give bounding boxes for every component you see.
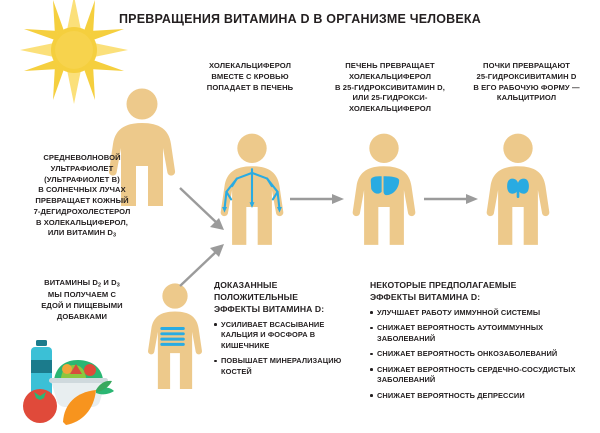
food-line-3: ЕДОЙ И ПИЩЕВЫМИ xyxy=(2,301,162,312)
proven-effects-list: УСИЛИВАЕТ ВСАСЫВАНИЕ КАЛЬЦИЯ И ФОСФОРА В… xyxy=(214,320,360,378)
presumed-heading-line-2: ЭФФЕКТЫ ВИТАМИНА D: xyxy=(370,292,596,304)
kidney-text-block: ПОЧКИ ПРЕВРАЩАЮТ 25-ГИДРОКСИВИТАМИН D В … xyxy=(455,61,598,104)
food-line-4: ДОБАВКАМИ xyxy=(2,312,162,323)
uvb-text-block: СРЕДНЕВОЛНОВОЙ УЛЬТРАФИОЛЕТ (УЛЬТРАФИОЛЕ… xyxy=(2,153,162,241)
presumed-heading-line-1: НЕКОТОРЫЕ ПРЕДПОЛАГАЕМЫЕ xyxy=(370,280,596,292)
tomato-icon xyxy=(23,389,57,423)
liver-line-2: ХОЛЕКАЛЬЦИФЕРОЛ xyxy=(320,72,460,83)
list-item: ПОВЫШАЕТ МИНЕРАЛИЗАЦИЮ КОСТЕЙ xyxy=(214,356,360,377)
uvb-line-2: УЛЬТРАФИОЛЕТ xyxy=(2,164,162,175)
liver-text-block: ПЕЧЕНЬ ПРЕВРАЩАЕТ ХОЛЕКАЛЬЦИФЕРОЛ В 25-Г… xyxy=(320,61,460,115)
uvb-line-6: 7-ДЕГИДРОХОЛЕСТЕРОЛ xyxy=(2,207,162,218)
food-line-1: ВИТАМИНЫ D2 И D3 xyxy=(2,278,162,290)
liver-line-1: ПЕЧЕНЬ ПРЕВРАЩАЕТ xyxy=(320,61,460,72)
food-line-2: МЫ ПОЛУЧАЕМ С xyxy=(2,290,162,301)
list-item: СНИЖАЕТ ВЕРОЯТНОСТЬ АУТОИММУННЫХ ЗАБОЛЕВ… xyxy=(370,323,596,344)
kidney-line-3: В ЕГО РАБОЧУЮ ФОРМУ — xyxy=(455,83,598,94)
uvb-subscript: 3 xyxy=(113,233,116,239)
kidney-line-4: КАЛЬЦИТРИОЛ xyxy=(455,93,598,104)
food-and-supplements-illustration xyxy=(4,334,116,430)
uvb-line-7: В ХОЛЕКАЛЬЦИФЕРОЛ, xyxy=(2,218,162,229)
food-vitamin-d2-label: ВИТАМИНЫ D xyxy=(44,278,98,287)
human-figure-kidneys xyxy=(482,133,554,245)
proven-effects-section: ДОКАЗАННЫЕ ПОЛОЖИТЕЛЬНЫЕ ЭФФЕКТЫ ВИТАМИН… xyxy=(214,280,360,382)
list-item: УЛУЧШАЕТ РАБОТУ ИММУННОЙ СИСТЕМЫ xyxy=(370,308,596,319)
proven-heading-line-1: ДОКАЗАННЫЕ xyxy=(214,280,360,292)
human-figure-liver xyxy=(348,133,420,245)
uvb-line-8-text: ИЛИ ВИТАМИН D xyxy=(48,228,113,237)
list-item: СНИЖАЕТ ВЕРОЯТНОСТЬ ОНКОЗАБОЛЕВАНИЙ xyxy=(370,349,596,360)
blood-text-block: ХОЛЕКАЛЬЦИФЕРОЛ ВМЕСТЕ С КРОВЬЮ ПОПАДАЕТ… xyxy=(172,61,328,93)
arrow-liver-to-kidney xyxy=(424,192,480,206)
proven-heading-line-3: ЭФФЕКТЫ ВИТАМИНА D: xyxy=(214,304,360,316)
uvb-line-5: ПРЕВРАЩАЕТ КОЖНЫЙ xyxy=(2,196,162,207)
presumed-effects-section: НЕКОТОРЫЕ ПРЕДПОЛАГАЕМЫЕ ЭФФЕКТЫ ВИТАМИН… xyxy=(370,280,596,406)
presumed-effects-list: УЛУЧШАЕТ РАБОТУ ИММУННОЙ СИСТЕМЫ СНИЖАЕТ… xyxy=(370,308,596,402)
arrow-blood-to-liver xyxy=(290,192,346,206)
proven-heading-line-2: ПОЛОЖИТЕЛЬНЫЕ xyxy=(214,292,360,304)
blood-line-2: ВМЕСТЕ С КРОВЬЮ xyxy=(172,72,328,83)
food-conjunction: И D xyxy=(101,278,117,287)
food-text-block: ВИТАМИНЫ D2 И D3 МЫ ПОЛУЧАЕМ С ЕДОЙ И ПИ… xyxy=(2,278,162,322)
kidney-line-2: 25-ГИДРОКСИВИТАМИН D xyxy=(455,72,598,83)
list-item: УСИЛИВАЕТ ВСАСЫВАНИЕ КАЛЬЦИЯ И ФОСФОРА В… xyxy=(214,320,360,352)
liver-line-5: ХОЛЕКАЛЬЦИФЕРОЛ xyxy=(320,104,460,115)
list-item: СНИЖАЕТ ВЕРОЯТНОСТЬ ДЕПРЕССИИ xyxy=(370,391,596,402)
list-item: СНИЖАЕТ ВЕРОЯТНОСТЬ СЕРДЕЧНО-СОСУДИСТЫХ … xyxy=(370,365,596,386)
presumed-effects-heading: НЕКОТОРЫЕ ПРЕДПОЛАГАЕМЫЕ ЭФФЕКТЫ ВИТАМИН… xyxy=(370,280,596,304)
blood-line-1: ХОЛЕКАЛЬЦИФЕРОЛ xyxy=(172,61,328,72)
blood-line-3: ПОПАДАЕТ В ПЕЧЕНЬ xyxy=(172,83,328,94)
kidney-line-1: ПОЧКИ ПРЕВРАЩАЮТ xyxy=(455,61,598,72)
proven-effects-heading: ДОКАЗАННЫЕ ПОЛОЖИТЕЛЬНЫЕ ЭФФЕКТЫ ВИТАМИН… xyxy=(214,280,360,316)
food-subscript-3: 3 xyxy=(117,282,120,288)
liver-line-4: ИЛИ 25-ГИДРОКСИ- xyxy=(320,93,460,104)
uvb-line-8: ИЛИ ВИТАМИН D3 xyxy=(2,228,162,240)
uvb-line-4: В СОЛНЕЧНЫХ ЛУЧАХ xyxy=(2,185,162,196)
uvb-line-3: (УЛЬТРАФИОЛЕТ В) xyxy=(2,175,162,186)
liver-line-3: В 25-ГИДРОКСИВИТАМИН D, xyxy=(320,83,460,94)
arrow-sun-to-blood xyxy=(178,186,228,236)
uvb-line-1: СРЕДНЕВОЛНОВОЙ xyxy=(2,153,162,164)
